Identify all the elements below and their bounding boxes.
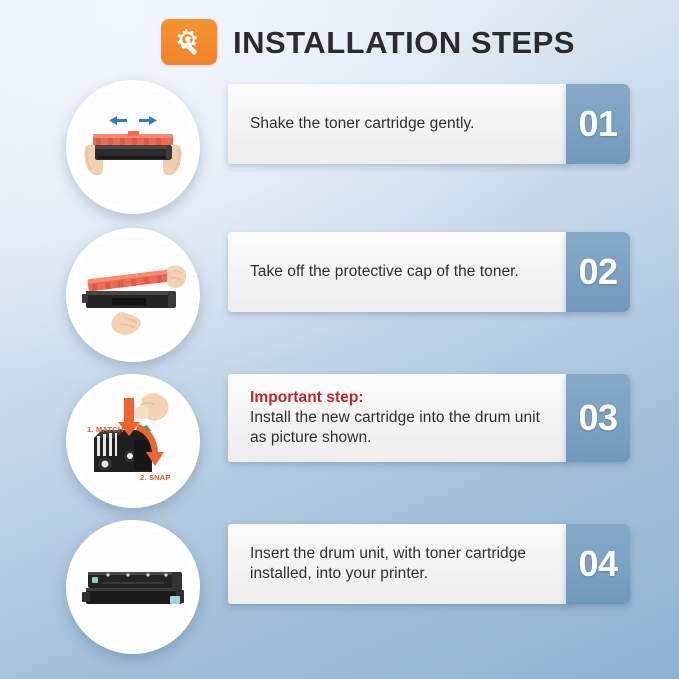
step-text: Important step:Install the new cartridge… [250, 388, 554, 448]
step-text: Take off the protective cap of the toner… [250, 262, 519, 282]
drum-unit-illustration [72, 526, 194, 648]
step-number: 01 [578, 106, 617, 142]
remove-protective-cap-illustration [72, 234, 194, 356]
page-title: INSTALLATION STEPS [233, 27, 575, 58]
step-image-circle [66, 80, 200, 214]
step-row: Shake the toner cartridge gently. 01 [0, 72, 679, 222]
gear-wrench-icon [161, 19, 217, 65]
step-card: Shake the toner cartridge gently. [228, 84, 568, 164]
step-number: 03 [578, 400, 617, 436]
step-card: Insert the drum unit, with toner cartrid… [228, 524, 568, 604]
step-text: Shake the toner cartridge gently. [250, 114, 475, 134]
step-number: 02 [578, 254, 617, 290]
step-row: Insert the drum unit, with toner cartrid… [0, 512, 679, 662]
step-card: Take off the protective cap of the toner… [228, 232, 568, 312]
step-row: 1. MATCH 2. SNAP Important step:Install … [0, 366, 679, 516]
step-text-body: Install the new cartridge into the drum … [250, 409, 540, 446]
step-row: Take off the protective cap of the toner… [0, 220, 679, 370]
step-image-circle: 1. MATCH 2. SNAP [66, 374, 200, 508]
step-number-badge: 03 [566, 374, 630, 462]
step-text: Insert the drum unit, with toner cartrid… [250, 544, 554, 584]
step-number-badge: 04 [566, 524, 630, 604]
step-card: Important step:Install the new cartridge… [228, 374, 568, 462]
step-number-badge: 02 [566, 232, 630, 312]
step-image-circle [66, 520, 200, 654]
annotation-snap: 2. SNAP [140, 473, 171, 482]
match-and-snap-cartridge-illustration: 1. MATCH 2. SNAP [72, 380, 194, 502]
page-header: INSTALLATION STEPS [161, 19, 575, 65]
infographic-page: INSTALLATION STEPS [0, 0, 679, 679]
step-image-circle [66, 228, 200, 362]
step-number: 04 [578, 546, 617, 582]
step-number-badge: 01 [566, 84, 630, 164]
important-step-label: Important step: [250, 388, 554, 408]
annotation-match: 1. MATCH [87, 425, 123, 434]
toner-cartridge-shake-illustration [72, 86, 194, 208]
